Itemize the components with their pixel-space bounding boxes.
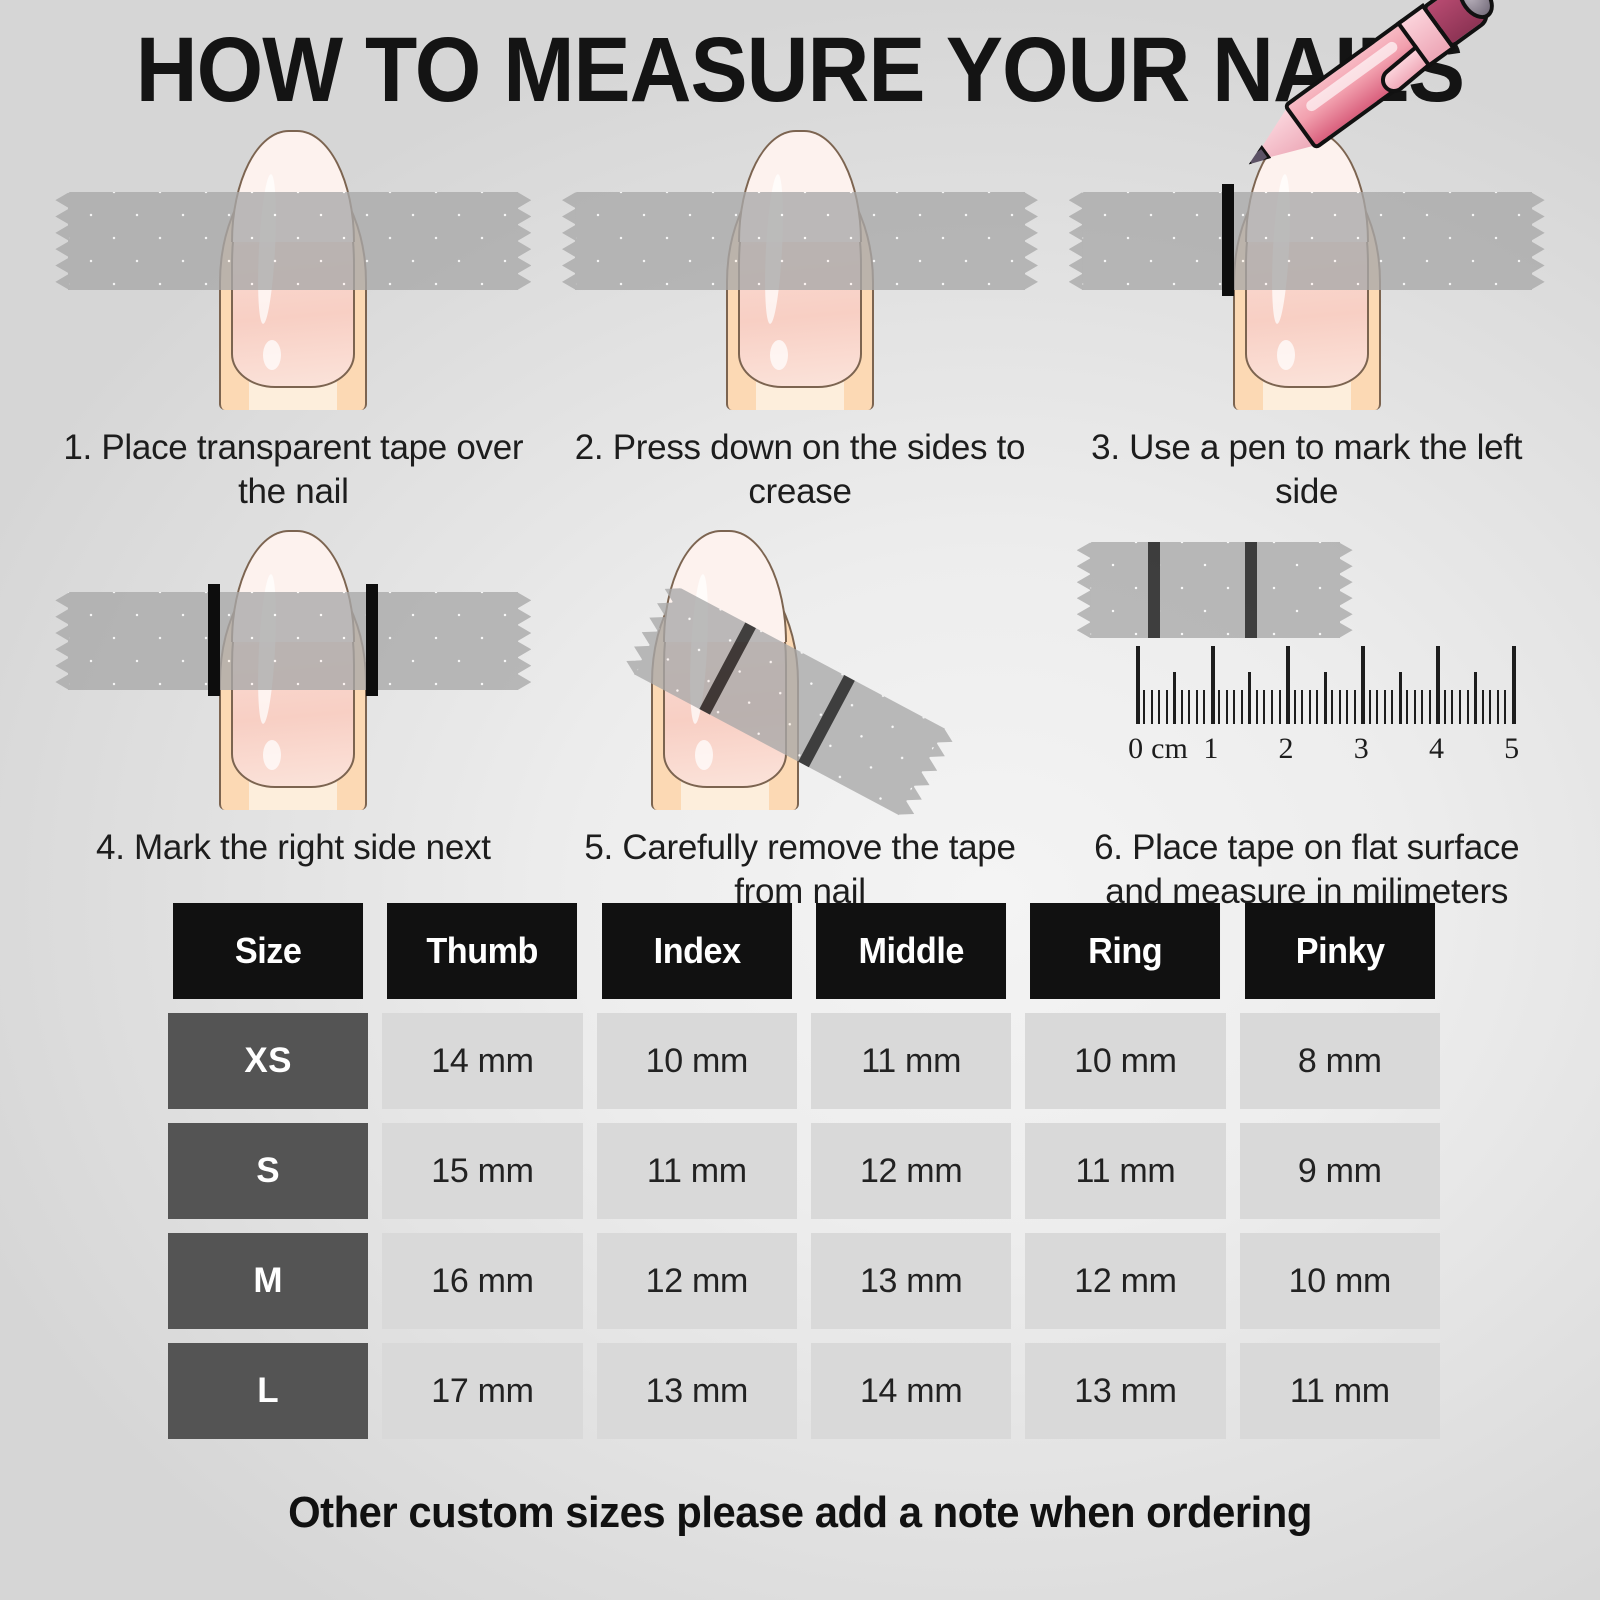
size-cell-xs: XS — [168, 1013, 368, 1109]
step-2: 2. Press down on the sides to crease — [547, 120, 1054, 514]
step-5-illustration — [547, 520, 1054, 810]
table-cell: 14 mm — [811, 1343, 1011, 1439]
ruler-tick — [1188, 690, 1190, 724]
step-1-illustration — [40, 120, 547, 410]
steps-grid: 1. Place transparent tape over the nail — [40, 120, 1560, 914]
ruler-tick — [1346, 690, 1348, 724]
step-3: 3. Use a pen to mark the left side — [1053, 120, 1560, 514]
ruler-tick — [1181, 690, 1183, 724]
step-3-caption: 3. Use a pen to mark the left side — [1053, 410, 1560, 514]
tape-strip-icon — [1082, 192, 1532, 290]
ruler-tick — [1451, 690, 1453, 724]
tape-strip-creased-icon — [575, 192, 1025, 290]
size-cell-m: M — [168, 1233, 368, 1329]
ruler-tick — [1444, 690, 1446, 724]
ruler-tick — [1233, 690, 1235, 724]
ruler-tick — [1391, 690, 1393, 724]
table-cell: 9 mm — [1240, 1123, 1440, 1219]
table-cell: 12 mm — [597, 1233, 797, 1329]
size-cell-s: S — [168, 1123, 368, 1219]
table-cell: 10 mm — [1240, 1233, 1440, 1329]
ruler-tick — [1324, 672, 1327, 724]
ruler-tick — [1504, 690, 1506, 724]
table-header-thumb: Thumb — [387, 903, 577, 999]
table-cell: 10 mm — [597, 1013, 797, 1109]
ruler-tick — [1271, 690, 1273, 724]
ruler-tick — [1354, 690, 1356, 724]
ruler-tick — [1316, 690, 1318, 724]
ruler-label-4: 4 — [1429, 732, 1444, 766]
tape-strip-icon — [68, 592, 518, 690]
table-header-ring: Ring — [1030, 903, 1220, 999]
left-mark-icon — [208, 584, 220, 696]
ruler-tick — [1459, 690, 1461, 724]
step-2-illustration — [547, 120, 1054, 410]
table-cell: 14 mm — [382, 1013, 582, 1109]
ruler-label-5: 5 — [1504, 732, 1519, 766]
ruler-tick — [1143, 690, 1145, 724]
step-4-caption: 4. Mark the right side next — [40, 810, 547, 870]
tape-strip-measured-icon — [1090, 542, 1340, 638]
table-cell: 16 mm — [382, 1233, 582, 1329]
ruler-tick — [1136, 646, 1140, 724]
ruler-unit-label: cm — [1151, 732, 1188, 766]
table-cell: 11 mm — [597, 1123, 797, 1219]
ruler-label-0: 0 — [1128, 732, 1143, 766]
table-cell: 11 mm — [1240, 1343, 1440, 1439]
table-cell: 13 mm — [1025, 1343, 1225, 1439]
right-mark-icon — [1245, 542, 1257, 638]
ruler-tick — [1173, 672, 1176, 724]
table-cell: 13 mm — [811, 1233, 1011, 1329]
table-cell: 10 mm — [1025, 1013, 1225, 1109]
ruler-tick — [1467, 690, 1469, 724]
ruler-tick — [1158, 690, 1160, 724]
table-header-index: Index — [602, 903, 792, 999]
ruler-tick — [1196, 690, 1198, 724]
ruler-tick — [1309, 690, 1311, 724]
ruler-tick — [1436, 646, 1440, 724]
right-mark-icon — [366, 584, 378, 696]
ruler-tick — [1241, 690, 1243, 724]
table-cell: 11 mm — [1025, 1123, 1225, 1219]
ruler-label-1: 1 — [1203, 732, 1218, 766]
ruler-tick — [1286, 646, 1290, 724]
ruler-tick — [1361, 646, 1365, 724]
table-header-pinky: Pinky — [1245, 903, 1435, 999]
table-cell: 12 mm — [811, 1123, 1011, 1219]
footer-note: Other custom sizes please add a note whe… — [40, 1488, 1560, 1538]
size-cell-l: L — [168, 1343, 368, 1439]
step-3-illustration — [1053, 120, 1560, 410]
ruler-tick — [1301, 690, 1303, 724]
step-5: 5. Carefully remove the tape from nail — [547, 520, 1054, 914]
step-6-illustration: 012345cm — [1053, 520, 1560, 810]
ruler-tick — [1512, 646, 1516, 724]
ruler-tick — [1166, 690, 1168, 724]
left-mark-icon — [1222, 184, 1234, 296]
ruler-label-2: 2 — [1279, 732, 1294, 766]
ruler-tick — [1497, 690, 1499, 724]
ruler-tick — [1429, 690, 1431, 724]
step-1-caption: 1. Place transparent tape over the nail — [40, 410, 547, 514]
ruler-tick — [1211, 646, 1215, 724]
ruler-tick — [1474, 672, 1477, 724]
ruler-tick — [1226, 690, 1228, 724]
step-6-caption: 6. Place tape on flat surface and measur… — [1053, 810, 1560, 914]
table-cell: 13 mm — [597, 1343, 797, 1439]
ruler-tick — [1203, 690, 1205, 724]
size-chart-table: SizeThumbIndexMiddleRingPinkyXS14 mm10 m… — [168, 903, 1440, 1439]
ruler-tick — [1489, 690, 1491, 724]
ruler-tick — [1331, 690, 1333, 724]
left-mark-icon — [1148, 542, 1160, 638]
step-6: 012345cm 6. Place tape on flat surface a… — [1053, 520, 1560, 914]
ruler-tick — [1248, 672, 1251, 724]
ruler-tick — [1339, 690, 1341, 724]
table-cell: 17 mm — [382, 1343, 582, 1439]
ruler-tick — [1218, 690, 1220, 724]
table-cell: 12 mm — [1025, 1233, 1225, 1329]
ruler-tick — [1414, 690, 1416, 724]
table-cell: 15 mm — [382, 1123, 582, 1219]
step-5-caption: 5. Carefully remove the tape from nail — [547, 810, 1054, 914]
table-header-size: Size — [173, 903, 363, 999]
ruler-tick — [1384, 690, 1386, 724]
tape-strip-icon — [68, 192, 518, 290]
step-4: 4. Mark the right side next — [40, 520, 547, 914]
step-4-illustration — [40, 520, 547, 810]
ruler-tick — [1279, 690, 1281, 724]
ruler-tick — [1421, 690, 1423, 724]
ruler-tick — [1399, 672, 1402, 724]
ruler-label-3: 3 — [1354, 732, 1369, 766]
ruler-tick — [1482, 690, 1484, 724]
table-header-middle: Middle — [816, 903, 1006, 999]
step-2-caption: 2. Press down on the sides to crease — [547, 410, 1054, 514]
ruler-tick — [1376, 690, 1378, 724]
table-cell: 11 mm — [811, 1013, 1011, 1109]
ruler-tick — [1263, 690, 1265, 724]
ruler-tick — [1369, 690, 1371, 724]
ruler-tick — [1256, 690, 1258, 724]
step-1: 1. Place transparent tape over the nail — [40, 120, 547, 514]
ruler-tick — [1294, 690, 1296, 724]
table-cell: 8 mm — [1240, 1013, 1440, 1109]
ruler-icon: 012345cm — [1090, 638, 1520, 768]
ruler-tick — [1151, 690, 1153, 724]
ruler-tick — [1406, 690, 1408, 724]
